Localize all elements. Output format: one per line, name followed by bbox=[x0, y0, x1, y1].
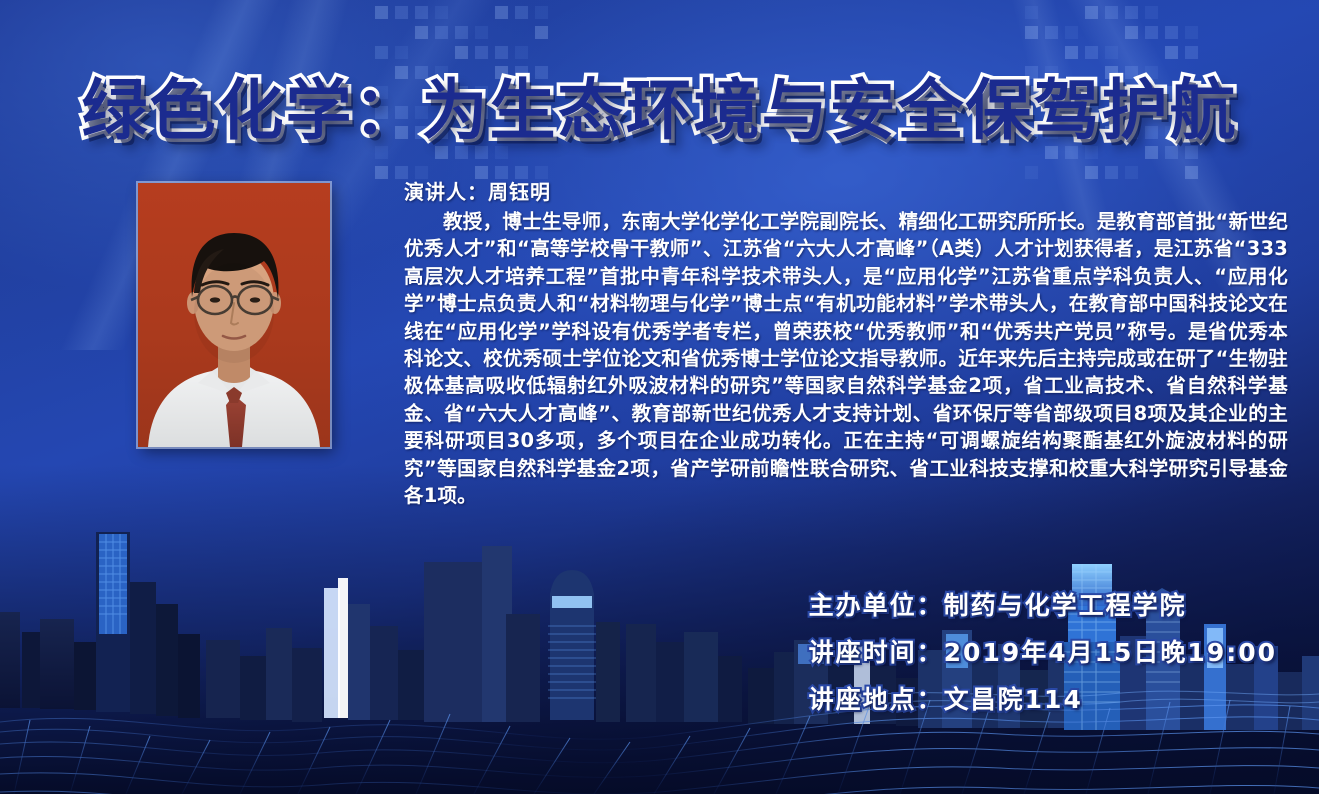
event-info-block: 主办单位：制药与化学工程学院 讲座时间：2019年4月15日晚19:00 讲座地… bbox=[809, 586, 1277, 716]
event-time: 讲座时间：2019年4月15日晚19:00 bbox=[809, 633, 1277, 669]
event-organizer: 主办单位：制药与化学工程学院 bbox=[809, 586, 1277, 622]
poster-title-container: 绿色化学：为生态环境与安全保驾护航 bbox=[0, 57, 1319, 153]
portrait-illustration bbox=[138, 183, 330, 447]
lecture-poster: 绿色化学：为生态环境与安全保驾护航 bbox=[0, 0, 1319, 794]
speaker-name-line: 演讲人：周钰明 bbox=[404, 176, 551, 205]
event-location: 讲座地点：文昌院114 bbox=[809, 680, 1277, 716]
speaker-portrait bbox=[138, 183, 330, 447]
poster-title: 绿色化学：为生态环境与安全保驾护航 bbox=[82, 57, 1238, 153]
speaker-biography: 教授，博士生导师，东南大学化学化工学院副院长、精细化工研究所所长。是教育部首批“… bbox=[404, 208, 1288, 509]
